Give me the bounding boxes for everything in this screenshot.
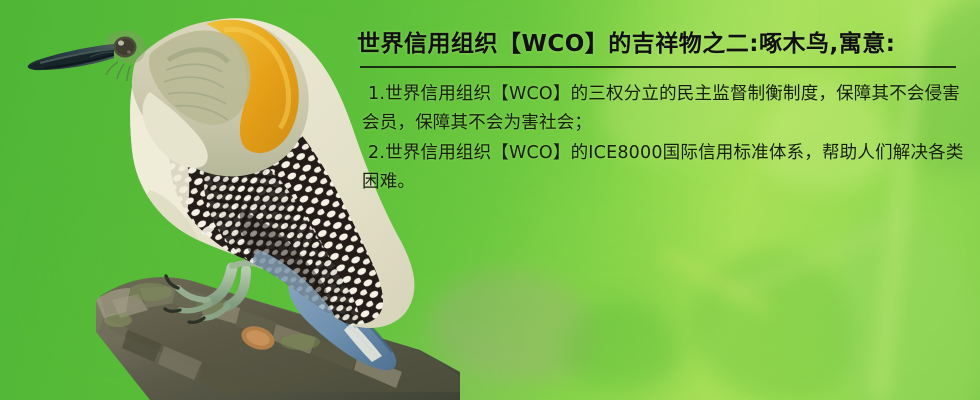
wco-mascot-banner: 世界信用组织【WCO】的吉祥物之二:啄木鸟,寓意: 1.世界信用组织【WCO】的… xyxy=(0,0,980,400)
title-divider xyxy=(360,66,956,68)
page-title: 世界信用组织【WCO】的吉祥物之二:啄木鸟,寓意: xyxy=(340,24,972,58)
bird-head xyxy=(28,20,309,177)
list-item: 1.世界信用组织【WCO】的三权分立的民主监督制衡制度，保障其不会侵害会员，保障… xyxy=(340,80,972,138)
bird-beak-icon xyxy=(28,44,114,70)
text-content: 世界信用组织【WCO】的吉祥物之二:啄木鸟,寓意: 1.世界信用组织【WCO】的… xyxy=(340,24,972,198)
list-item: 2.世界信用组织【WCO】的ICE8000国际信用标准体系，帮助人们解决各类困难… xyxy=(340,139,972,197)
mascot-meaning-list: 1.世界信用组织【WCO】的三权分立的民主监督制衡制度，保障其不会侵害会员，保障… xyxy=(340,80,972,197)
